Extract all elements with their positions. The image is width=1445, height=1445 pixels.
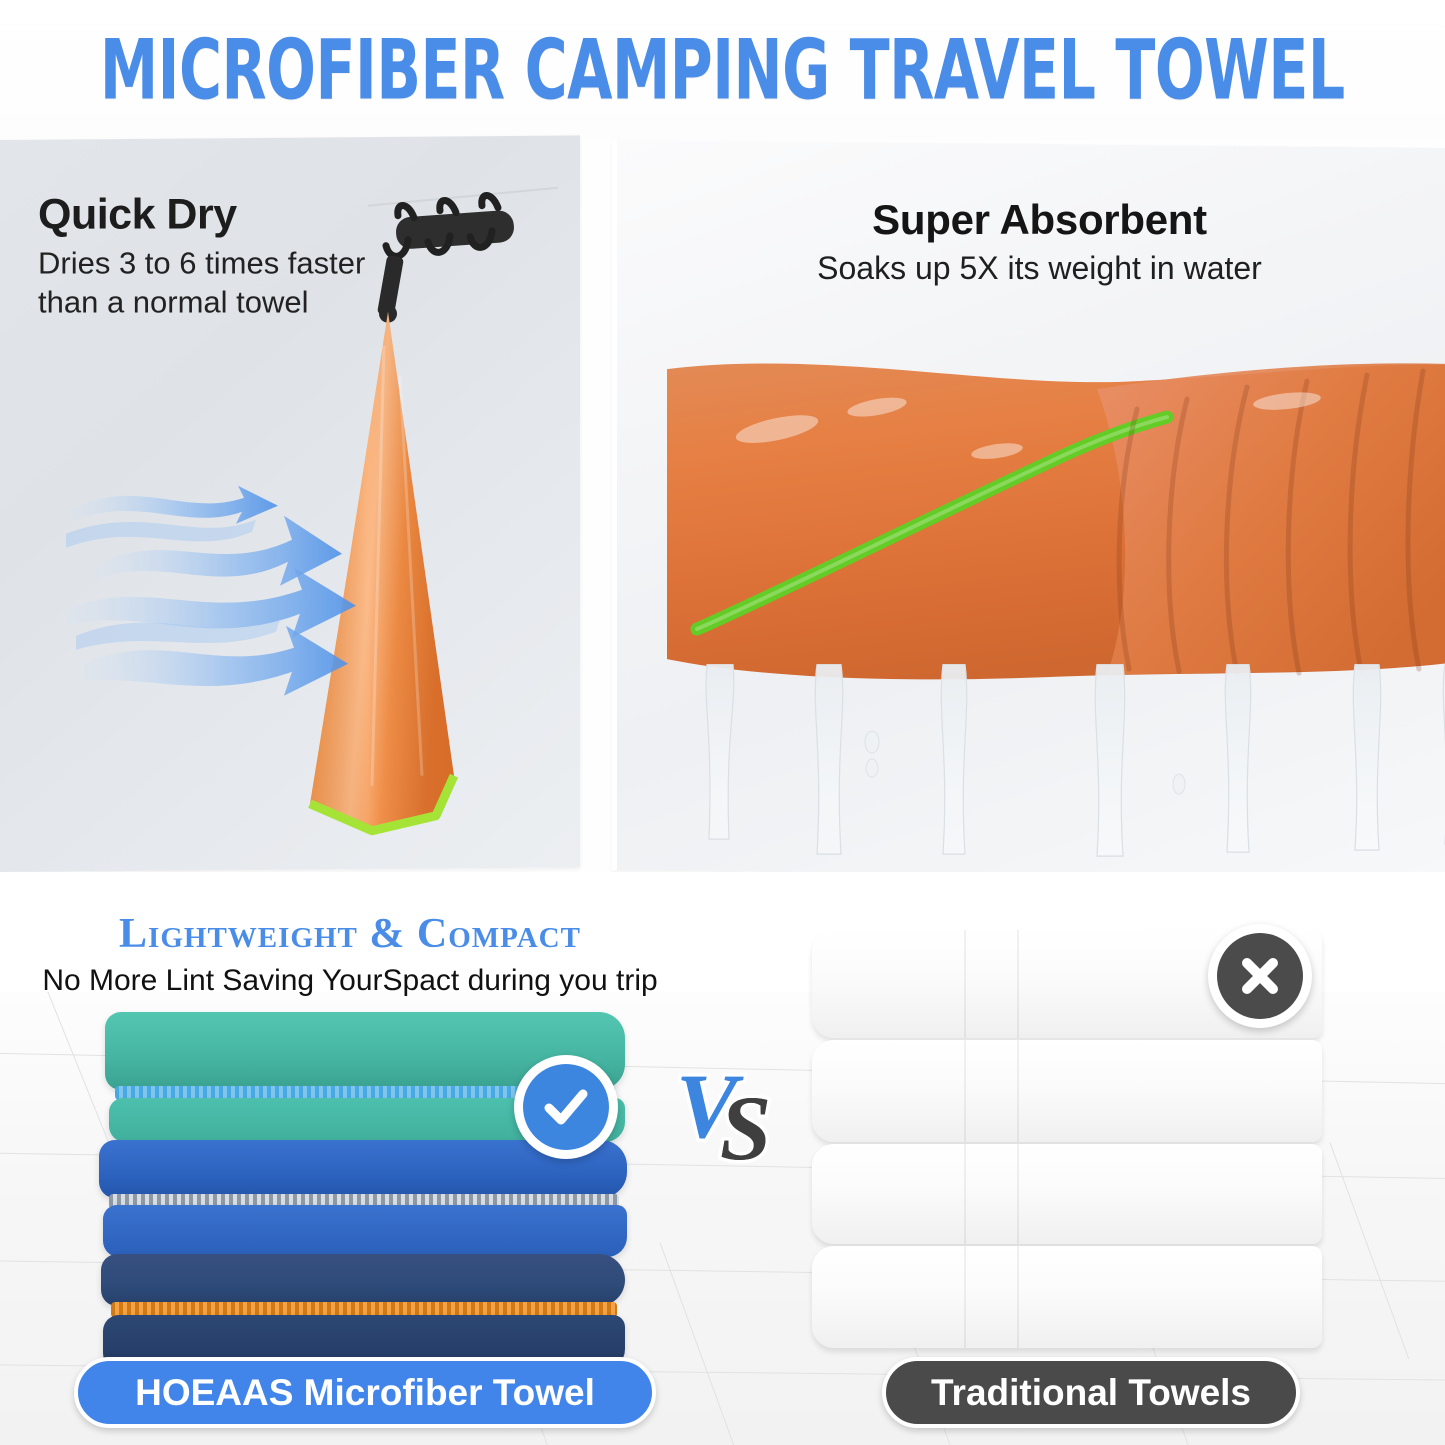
super-absorbent-subtitle: Soaks up 5X its weight in water xyxy=(617,250,1445,287)
infographic-root: MICROFIBER CAMPING TRAVEL TOWEL Quick Dr… xyxy=(0,0,1445,1445)
floor-plank xyxy=(1330,1142,1410,1358)
floor-plank xyxy=(660,1242,740,1445)
wet-towel-image xyxy=(667,359,1445,689)
super-absorbent-title: Super Absorbent xyxy=(617,196,1445,244)
comparison-section: Lightweight & Compact No More Lint Savin… xyxy=(0,872,1445,1445)
list-item xyxy=(812,1144,1322,1244)
airflow-arrows-icon xyxy=(66,458,386,718)
towel-seam xyxy=(964,1246,966,1348)
check-icon xyxy=(523,1064,609,1150)
traditional-label-text: Traditional Towels xyxy=(931,1372,1251,1414)
panel-quick-dry: Quick Dry Dries 3 to 6 times faster than… xyxy=(0,135,580,872)
list-item xyxy=(812,1246,1322,1348)
page-title: MICROFIBER CAMPING TRAVEL TOWEL xyxy=(100,22,1345,119)
towel-seam xyxy=(964,1144,966,1244)
towel-seam xyxy=(1017,1246,1019,1348)
check-badge xyxy=(514,1055,618,1159)
towel-seam xyxy=(1017,1144,1019,1244)
list-item xyxy=(103,1205,627,1257)
microfiber-label-pill[interactable]: HOEAAS Microfiber Towel xyxy=(74,1357,656,1428)
towel-seam xyxy=(964,930,966,1038)
x-icon xyxy=(1217,933,1303,1019)
super-absorbent-text-block: Super Absorbent Soaks up 5X its weight i… xyxy=(617,196,1445,287)
water-drip-icon xyxy=(667,664,1445,864)
towel-seam xyxy=(964,1040,966,1142)
vs-label: V V S S xyxy=(676,1060,806,1170)
list-item xyxy=(101,1254,625,1306)
microfiber-label-text: HOEAAS Microfiber Towel xyxy=(135,1372,595,1414)
lightweight-subtitle: No More Lint Saving YourSpact during you… xyxy=(0,964,700,998)
lightweight-title: Lightweight & Compact xyxy=(0,910,700,958)
vs-letter-s: S xyxy=(720,1082,771,1174)
list-item xyxy=(812,1040,1322,1142)
towel-seam xyxy=(1017,930,1019,1038)
x-badge xyxy=(1208,924,1312,1028)
lightweight-text-block: Lightweight & Compact No More Lint Savin… xyxy=(0,910,700,998)
traditional-label-pill[interactable]: Traditional Towels xyxy=(882,1357,1300,1428)
towel-seam xyxy=(1017,1040,1019,1142)
panel-super-absorbent: Super Absorbent Soaks up 5X its weight i… xyxy=(612,140,1445,878)
page-title-bar: MICROFIBER CAMPING TRAVEL TOWEL xyxy=(0,0,1445,140)
